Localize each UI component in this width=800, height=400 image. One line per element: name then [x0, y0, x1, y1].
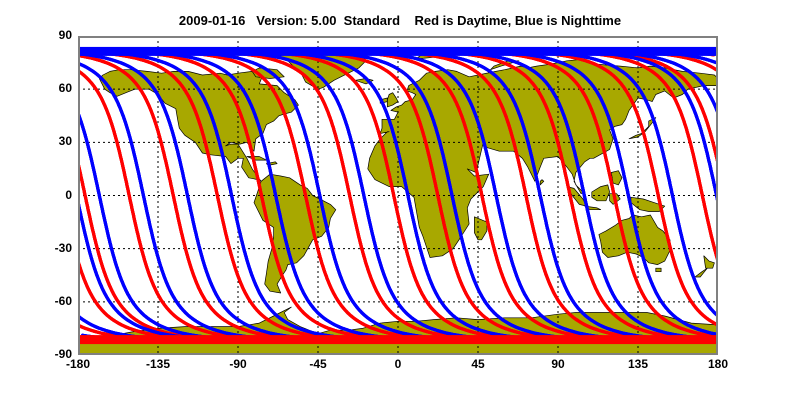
x-tick-label: 135 — [608, 357, 668, 371]
plot-area — [78, 36, 718, 355]
x-tick-label: -135 — [128, 357, 188, 371]
x-tick-label: 90 — [528, 357, 588, 371]
x-tick-label: -180 — [48, 357, 108, 371]
y-tick-label: 60 — [28, 81, 72, 95]
x-tick-label: -90 — [208, 357, 268, 371]
x-tick-label: -45 — [288, 357, 348, 371]
y-tick-label: 90 — [28, 28, 72, 42]
y-tick-label: -60 — [28, 294, 72, 308]
x-tick-label: 180 — [688, 357, 748, 371]
ground-track-figure: 2009-01-16 Version: 5.00 Standard Red is… — [0, 0, 800, 400]
y-tick-label: 30 — [28, 134, 72, 148]
north-polar-track-band — [78, 47, 718, 56]
x-tick-label: 0 — [368, 357, 428, 371]
ground-track-plot — [78, 36, 718, 355]
y-tick-label: -30 — [28, 241, 72, 255]
figure-title: 2009-01-16 Version: 5.00 Standard Red is… — [0, 13, 800, 28]
y-tick-label: 0 — [28, 188, 72, 202]
x-tick-label: 45 — [448, 357, 508, 371]
south-polar-track-band — [78, 335, 718, 344]
